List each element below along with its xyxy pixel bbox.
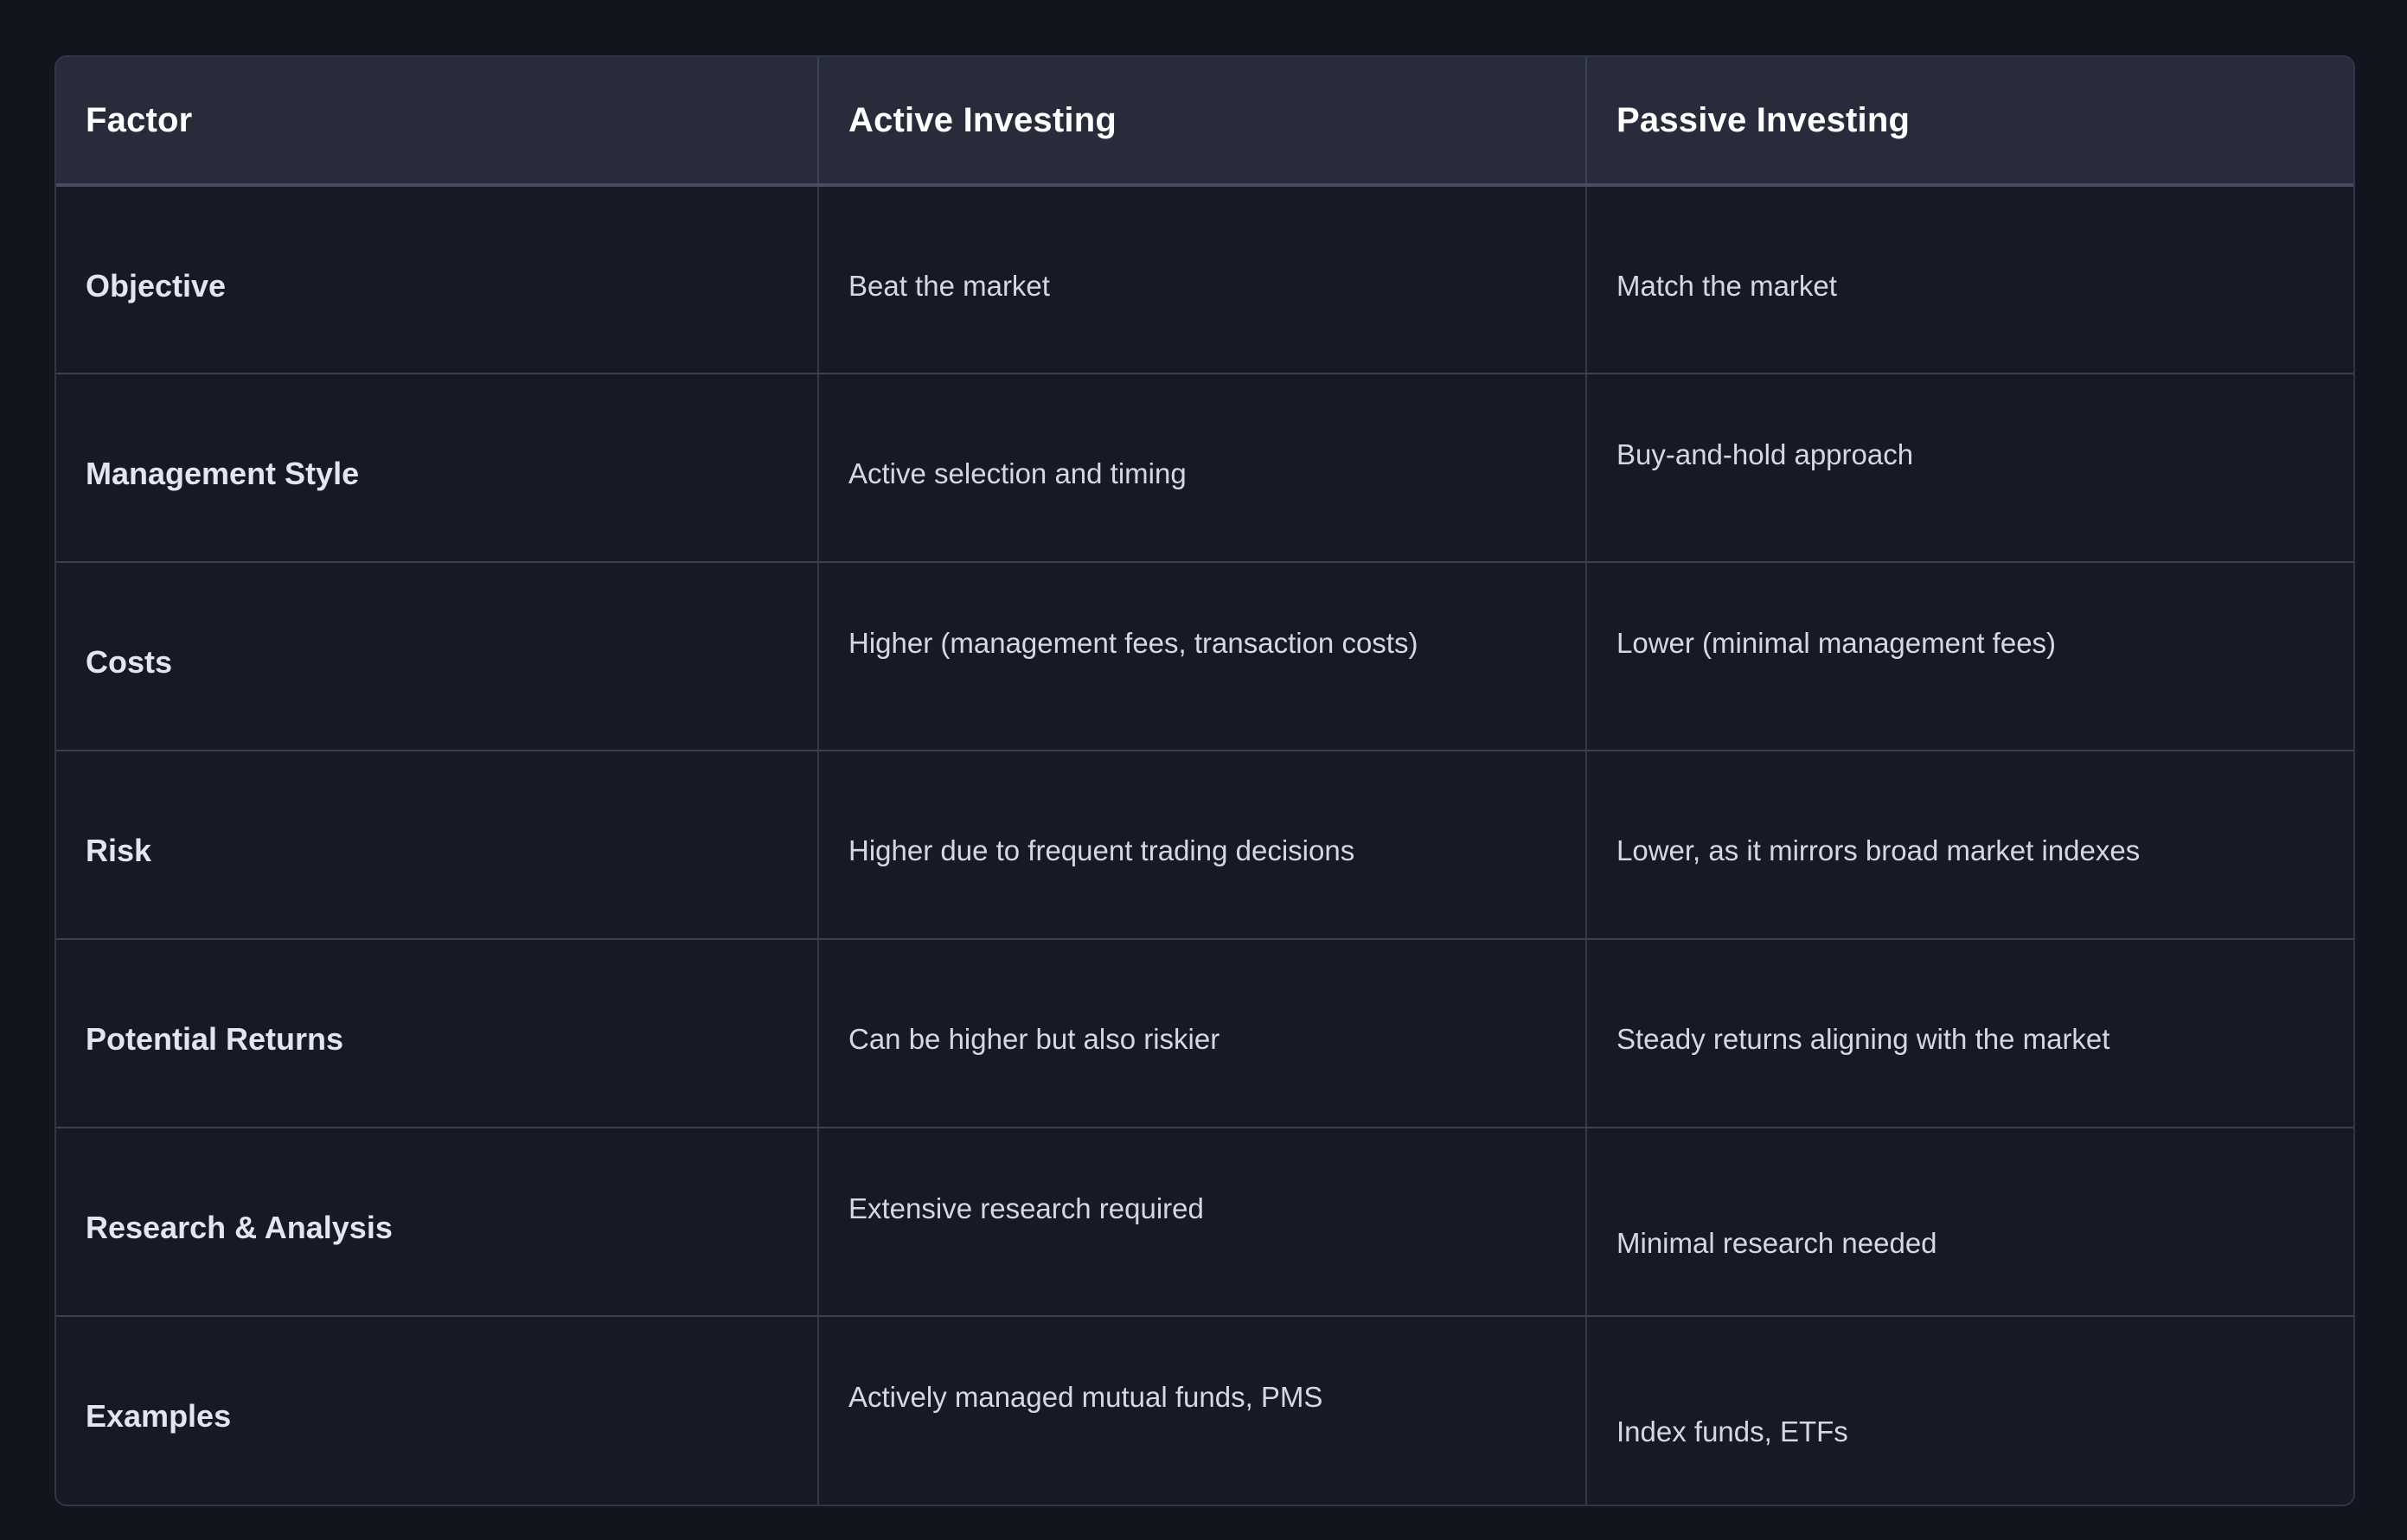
table-header-row: Factor Active Investing Passive Investin… bbox=[56, 57, 2353, 185]
factor-label: Management Style bbox=[56, 374, 817, 493]
cell-passive-investing: Steady returns aligning with the market bbox=[1586, 939, 2353, 1128]
active-investing-value: Beat the market bbox=[819, 187, 1585, 307]
passive-investing-value: Index funds, ETFs bbox=[1587, 1317, 2353, 1453]
factor-label: Research & Analysis bbox=[56, 1128, 817, 1247]
active-investing-value: Active selection and timing bbox=[819, 374, 1585, 495]
cell-factor: Management Style bbox=[56, 374, 818, 562]
table-row: ExamplesActively managed mutual funds, P… bbox=[56, 1316, 2353, 1505]
table-row: Potential ReturnsCan be higher but also … bbox=[56, 939, 2353, 1128]
cell-passive-investing: Lower (minimal management fees) bbox=[1586, 562, 2353, 751]
cell-passive-investing: Index funds, ETFs bbox=[1586, 1316, 2353, 1505]
passive-investing-value: Lower, as it mirrors broad market indexe… bbox=[1587, 751, 2353, 872]
cell-factor: Costs bbox=[56, 562, 818, 751]
active-investing-value: Actively managed mutual funds, PMS bbox=[819, 1317, 1585, 1418]
column-header-passive-investing: Passive Investing bbox=[1586, 57, 2353, 185]
column-header-factor: Factor bbox=[56, 57, 818, 185]
passive-investing-value: Match the market bbox=[1587, 187, 2353, 307]
cell-factor: Potential Returns bbox=[56, 939, 818, 1128]
passive-investing-value: Minimal research needed bbox=[1587, 1128, 2353, 1264]
cell-factor: Risk bbox=[56, 751, 818, 939]
active-investing-value: Higher due to frequent trading decisions bbox=[819, 751, 1585, 872]
cell-active-investing: Extensive research required bbox=[818, 1128, 1586, 1316]
factor-label: Costs bbox=[56, 563, 817, 681]
active-investing-value: Can be higher but also riskier bbox=[819, 940, 1585, 1060]
factor-label: Examples bbox=[56, 1317, 817, 1435]
cell-active-investing: Higher (management fees, transaction cos… bbox=[818, 562, 1586, 751]
cell-passive-investing: Buy-and-hold approach bbox=[1586, 374, 2353, 562]
cell-active-investing: Active selection and timing bbox=[818, 374, 1586, 562]
table-body: ObjectiveBeat the marketMatch the market… bbox=[56, 185, 2353, 1505]
passive-investing-value: Lower (minimal management fees) bbox=[1587, 563, 2353, 664]
column-header-active-investing: Active Investing bbox=[818, 57, 1586, 185]
cell-passive-investing: Match the market bbox=[1586, 185, 2353, 374]
cell-factor: Objective bbox=[56, 185, 818, 374]
factor-label: Objective bbox=[56, 187, 817, 305]
table-row: Management StyleActive selection and tim… bbox=[56, 374, 2353, 562]
table-header: Factor Active Investing Passive Investin… bbox=[56, 57, 2353, 185]
cell-passive-investing: Lower, as it mirrors broad market indexe… bbox=[1586, 751, 2353, 939]
cell-passive-investing: Minimal research needed bbox=[1586, 1128, 2353, 1316]
cell-active-investing: Higher due to frequent trading decisions bbox=[818, 751, 1586, 939]
cell-factor: Examples bbox=[56, 1316, 818, 1505]
cell-active-investing: Actively managed mutual funds, PMS bbox=[818, 1316, 1586, 1505]
table-row: Research & AnalysisExtensive research re… bbox=[56, 1128, 2353, 1316]
factor-label: Risk bbox=[56, 751, 817, 870]
passive-investing-value: Buy-and-hold approach bbox=[1587, 374, 2353, 476]
table-row: CostsHigher (management fees, transactio… bbox=[56, 562, 2353, 751]
comparison-table-card: Factor Active Investing Passive Investin… bbox=[54, 55, 2355, 1506]
table-row: RiskHigher due to frequent trading decis… bbox=[56, 751, 2353, 939]
cell-active-investing: Can be higher but also riskier bbox=[818, 939, 1586, 1128]
cell-active-investing: Beat the market bbox=[818, 185, 1586, 374]
active-investing-value: Higher (management fees, transaction cos… bbox=[819, 563, 1585, 664]
passive-investing-value: Steady returns aligning with the market bbox=[1587, 940, 2353, 1060]
page-root: Factor Active Investing Passive Investin… bbox=[0, 0, 2407, 1540]
factor-label: Potential Returns bbox=[56, 940, 817, 1058]
cell-factor: Research & Analysis bbox=[56, 1128, 818, 1316]
active-investing-value: Extensive research required bbox=[819, 1128, 1585, 1230]
table-row: ObjectiveBeat the marketMatch the market bbox=[56, 185, 2353, 374]
comparison-table: Factor Active Investing Passive Investin… bbox=[56, 57, 2353, 1505]
